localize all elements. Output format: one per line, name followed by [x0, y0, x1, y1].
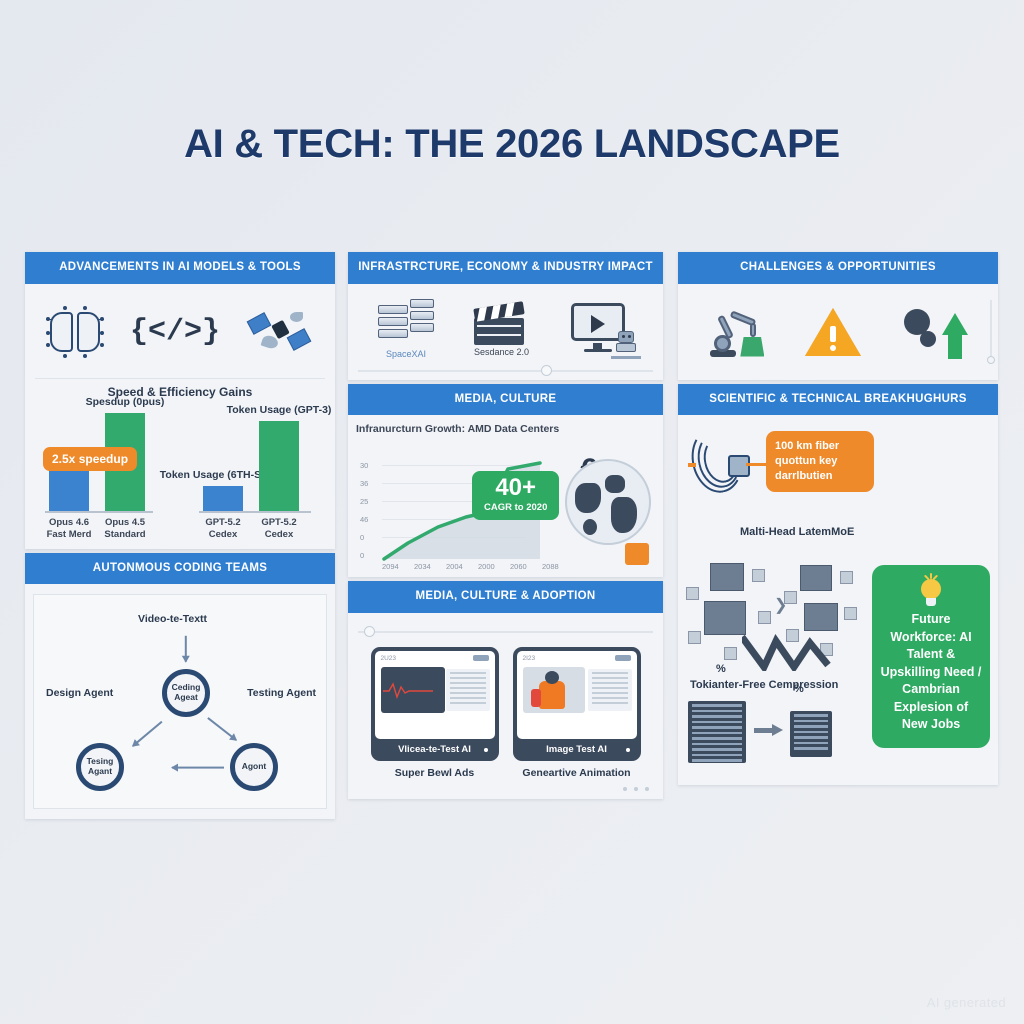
icon-strip-challenges — [688, 294, 988, 372]
node-agent: Agont — [230, 743, 278, 791]
section-header-media-adoption: MEDIA, CULTURE & ADOPTION — [348, 581, 663, 613]
gears-growth-arrow-icon — [902, 307, 968, 359]
node-testing-agent-label: Tesing Agant — [81, 757, 119, 777]
y-tick-5: 0 — [360, 551, 364, 560]
cagr-badge-value: 40+ — [484, 476, 547, 500]
clapperboard-caption: Sesdance 2.0 — [474, 347, 529, 357]
carousel-slider[interactable] — [358, 370, 653, 372]
node-agent-label: Agont — [242, 762, 267, 772]
y-tick-3: 46 — [360, 515, 368, 524]
fiber-optic-icon — [692, 427, 776, 499]
robot-arm-icon — [708, 309, 764, 357]
node-coding-agent: Ceding Ageat — [162, 669, 210, 717]
speedup-badge: 2.5x speedup — [43, 447, 137, 471]
compression-zigzag-icon — [742, 633, 838, 671]
doc-preview-1 — [588, 669, 632, 711]
monitor-play-cell — [569, 303, 633, 355]
token-doc-before — [688, 701, 746, 763]
bar-chart-speed-efficiency: Spesdup (0pus) Token Usage (6TH-Sarks) T… — [35, 405, 325, 545]
panel-breakthroughs: SCIENTIFIC & TECHNICAL BREAKHUGHURS 100 … — [678, 384, 998, 786]
icon-strip-advancements: {</>} — [35, 290, 325, 374]
section-header-advancements: ADVANCEMENTS IN AI MODELS & TOOLS — [25, 252, 335, 284]
y-tick-0: 30 — [360, 461, 368, 470]
cagr-badge-sub: CAGR to 2020 — [484, 502, 547, 513]
doc-preview-0 — [446, 669, 490, 711]
section-header-breakthroughs: SCIENTIFIC & TECHNICAL BREAKHUGHURS — [678, 384, 998, 416]
column-challenges: CHALLENGES & OPPORTUNITIES — [678, 252, 998, 789]
clapperboard-icon — [474, 301, 524, 345]
section-header-autonomous-coding: AUTONMOUS CODING TEAMS — [25, 553, 335, 585]
y-tick-1: 36 — [360, 479, 368, 488]
card-timestamp-0: 2U23 — [381, 655, 397, 662]
x-tick-1: 2034 — [414, 562, 431, 571]
line-chart-title: Infranurcturn Growth: AMD Data Centers — [356, 423, 655, 437]
panel-infrastructure: INFRASTRCTURE, ECONOMY & INDUSTRY IMPACT… — [348, 252, 663, 380]
adoption-slider[interactable] — [358, 631, 653, 633]
panel-autonomous-coding: AUTONMOUS CODING TEAMS Video-te-Textt De… — [25, 553, 335, 820]
clapperboard-cell: Sesdance 2.0 — [474, 301, 529, 357]
node-coding-agent-label: Ceding Ageat — [167, 683, 205, 703]
infographic-poster: AI & TECH: THE 2026 LANDSCAPE ADVANCEMEN… — [0, 0, 1024, 1024]
x-label-3: GPT-5.2 Cedex — [251, 517, 307, 541]
card-sub-0: Super Bewl Ads — [371, 767, 499, 779]
card-screen-0: 2U23 — [375, 651, 495, 739]
warning-triangle-icon — [805, 308, 861, 358]
icon-strip-infrastructure: SpaceXAI Sesdance 2.0 — [358, 292, 653, 366]
section-header-challenges: CHALLENGES & OPPORTUNITIES — [678, 252, 998, 284]
robot-arm-cell — [708, 309, 764, 357]
up-arrow-icon — [942, 313, 968, 359]
bar-gpt52-b: Token Usage (GPT-3) — [259, 421, 299, 511]
chip-icon — [728, 455, 750, 477]
robot-icon — [611, 329, 641, 359]
x-label-2: GPT-5.2 Cedex — [195, 517, 251, 541]
panel-media-adoption: MEDIA, CULTURE & ADOPTION 2U23 — [348, 581, 663, 799]
quantum-key-callout: 100 km fiber quottun key darrlbutien — [766, 431, 874, 492]
x-tick-2: 2004 — [446, 562, 463, 571]
divider — [35, 378, 325, 379]
card-caption-0: Vlicea-te-Test AI — [375, 739, 495, 761]
node-testing-agent: Tesing Agant — [76, 743, 124, 791]
globe-icon — [565, 459, 651, 545]
future-workforce-callout: Future Workforce: AI Talent & Upskilling… — [872, 565, 990, 748]
warning-triangle-cell — [805, 308, 861, 358]
agent-design-label: Design Agent — [46, 687, 113, 699]
gears-growth-cell — [902, 307, 968, 359]
server-stack-caption: SpaceXAI — [378, 349, 434, 359]
panel-challenges: CHALLENGES & OPPORTUNITIES — [678, 252, 998, 380]
page-title: AI & TECH: THE 2026 LANDSCAPE — [0, 122, 1024, 167]
satellite-icon — [249, 308, 311, 356]
agent-testing-label: Testing Agent — [247, 687, 316, 699]
column-infrastructure: INFRASTRCTURE, ECONOMY & INDUSTRY IMPACT… — [348, 252, 663, 803]
x-tick-5: 2088 — [542, 562, 559, 571]
card-caption-1: Image Test AI — [517, 739, 637, 761]
x-tick-3: 2000 — [478, 562, 495, 571]
monitor-play-icon — [569, 303, 633, 355]
card-sub-1: Geneartive Animation — [513, 767, 641, 779]
code-brackets-icon: {</>} — [130, 315, 220, 349]
brain-icon — [49, 309, 101, 355]
section-header-media-culture: MEDIA, CULTURE — [348, 384, 663, 416]
media-cards: 2U23 Vlicea-te — [356, 619, 655, 779]
card-screen-1: 2I23 — [517, 651, 637, 739]
token-doc-after — [790, 711, 832, 757]
moe-title: Malti-Head LatemMoE — [740, 525, 854, 539]
card-video-to-text[interactable]: 2U23 Vlicea-te — [371, 647, 499, 779]
server-stack-cell: SpaceXAI — [378, 299, 434, 359]
column-ai-models: ADVANCEMENTS IN AI MODELS & TOOLS — [25, 252, 335, 823]
line-chart-infrastructure-growth: Infranurcturn Growth: AMD Data Centers 3… — [356, 423, 655, 573]
pct-top: % — [716, 663, 726, 675]
watermark: AI generated — [927, 995, 1006, 1010]
chart-title-speed: Speed & Efficiency Gains — [35, 385, 325, 399]
carousel-dots[interactable] — [623, 787, 649, 791]
panel-media-culture: MEDIA, CULTURE Infranurcturn Growth: AMD… — [348, 384, 663, 578]
x-tick-4: 2060 — [510, 562, 527, 571]
compression-arrow-icon — [754, 725, 784, 735]
x-tick-0: 2094 — [382, 562, 399, 571]
lightbulb-icon — [916, 579, 946, 609]
compression-title: Tokianter-Free Cempression — [690, 679, 838, 691]
y-tick-4: 0 — [360, 533, 364, 542]
section-header-infrastructure: INFRASTRCTURE, ECONOMY & INDUSTRY IMPACT — [348, 252, 663, 284]
card-image-test-ai[interactable]: 2I23 — [513, 647, 641, 779]
brain-icon-cell — [49, 309, 101, 355]
cagr-badge: 40+ CAGR to 2020 — [472, 471, 559, 520]
panel-advancements: ADVANCEMENTS IN AI MODELS & TOOLS — [25, 252, 335, 549]
code-brackets-icon-cell: {</>} — [130, 315, 220, 349]
y-tick-2: 25 — [360, 497, 368, 506]
server-stack-icon — [378, 299, 434, 347]
coins-icon — [625, 543, 649, 565]
satellite-icon-cell — [249, 308, 311, 356]
x-label-1: Opus 4.5 Standard — [97, 517, 153, 541]
agent-input-label: Video-te-Textt — [138, 613, 207, 625]
bar-label-3: Token Usage (GPT-3) — [227, 404, 332, 417]
bar-label-1: Spesdup (0pus) — [86, 396, 165, 409]
waveform-icon — [383, 681, 433, 699]
card-timestamp-1: 2I23 — [523, 655, 536, 662]
future-workforce-text: Future Workforce: AI Talent & Upskilling… — [881, 612, 982, 731]
x-label-0: Opus 4.6 Fast Merd — [41, 517, 97, 541]
scrollbar[interactable] — [990, 300, 992, 364]
bar-gpt52-a: Token Usage (6TH-Sarks) — [203, 486, 243, 511]
agent-diagram: Video-te-Textt Design Agent Testing Agen… — [33, 594, 327, 809]
